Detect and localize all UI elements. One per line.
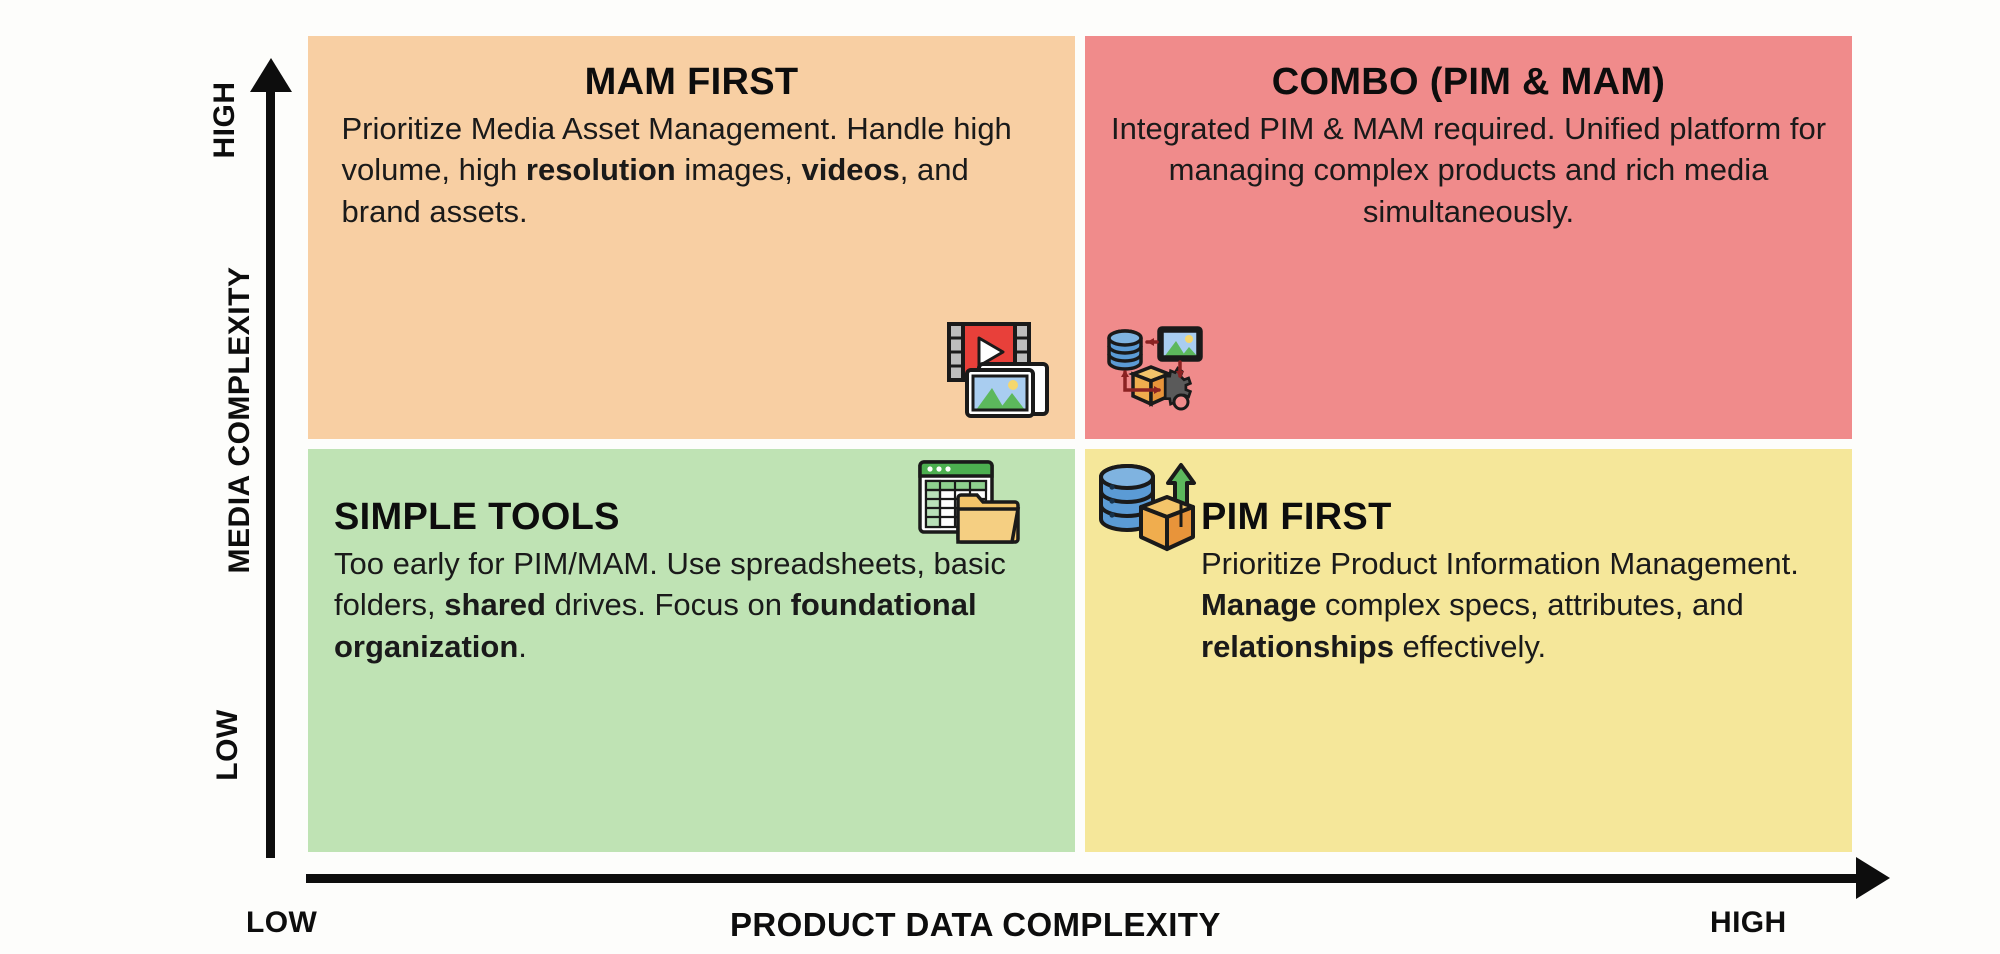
database-media-gear-cycle-icon xyxy=(1103,320,1207,429)
database-box-uparrow-icon xyxy=(1093,455,1203,560)
quadrant-title-mam-first: MAM FIRST xyxy=(585,62,799,104)
quadrant-title-simple-tools: SIMPLE TOOLS xyxy=(334,497,620,539)
y-axis-line xyxy=(266,70,275,858)
y-axis-high-label: HIGH xyxy=(208,40,242,200)
quadrant-simple-tools[interactable]: SIMPLE TOOLS Too early for PIM/MAM. Use … xyxy=(308,449,1075,852)
x-axis-line xyxy=(306,874,1862,883)
x-axis-low-label: LOW xyxy=(246,906,317,940)
quadrant-body-combo: Integrated PIM & MAM required. Unified p… xyxy=(1111,108,1826,233)
y-axis: HIGH MEDIA COMPLEXITY LOW xyxy=(190,28,310,848)
y-axis-low-label: LOW xyxy=(211,665,245,825)
quadrant-body-simple-tools: Too early for PIM/MAM. Use spreadsheets,… xyxy=(334,543,1049,668)
quadrant-body-pim-first: Prioritize Product Information Managemen… xyxy=(1201,543,1826,668)
x-axis: LOW PRODUCT DATA COMPLEXITY HIGH xyxy=(300,860,1960,954)
quadrant-title-pim-first: PIM FIRST xyxy=(1201,497,1392,539)
x-axis-title: PRODUCT DATA COMPLEXITY xyxy=(730,906,1221,944)
quadrant-diagram: HIGH MEDIA COMPLEXITY LOW MAM FIRST Prio… xyxy=(0,0,2000,954)
x-axis-arrow-icon xyxy=(1856,857,1890,899)
quadrant-grid: MAM FIRST Prioritize Media Asset Managem… xyxy=(308,36,1852,852)
x-axis-high-label: HIGH xyxy=(1710,906,1787,940)
video-and-photos-icon xyxy=(947,322,1051,423)
quadrant-pim-first[interactable]: PIM FIRST Prioritize Product Information… xyxy=(1085,449,1852,852)
y-axis-title: MEDIA COMPLEXITY xyxy=(223,240,257,600)
quadrant-body-mam-first: Prioritize Media Asset Management. Handl… xyxy=(342,108,1042,233)
quadrant-mam-first[interactable]: MAM FIRST Prioritize Media Asset Managem… xyxy=(308,36,1075,439)
spreadsheet-folder-icon xyxy=(917,459,1021,552)
quadrant-title-combo: COMBO (PIM & MAM) xyxy=(1272,62,1666,104)
quadrant-combo-pim-mam[interactable]: COMBO (PIM & MAM) Integrated PIM & MAM r… xyxy=(1085,36,1852,439)
